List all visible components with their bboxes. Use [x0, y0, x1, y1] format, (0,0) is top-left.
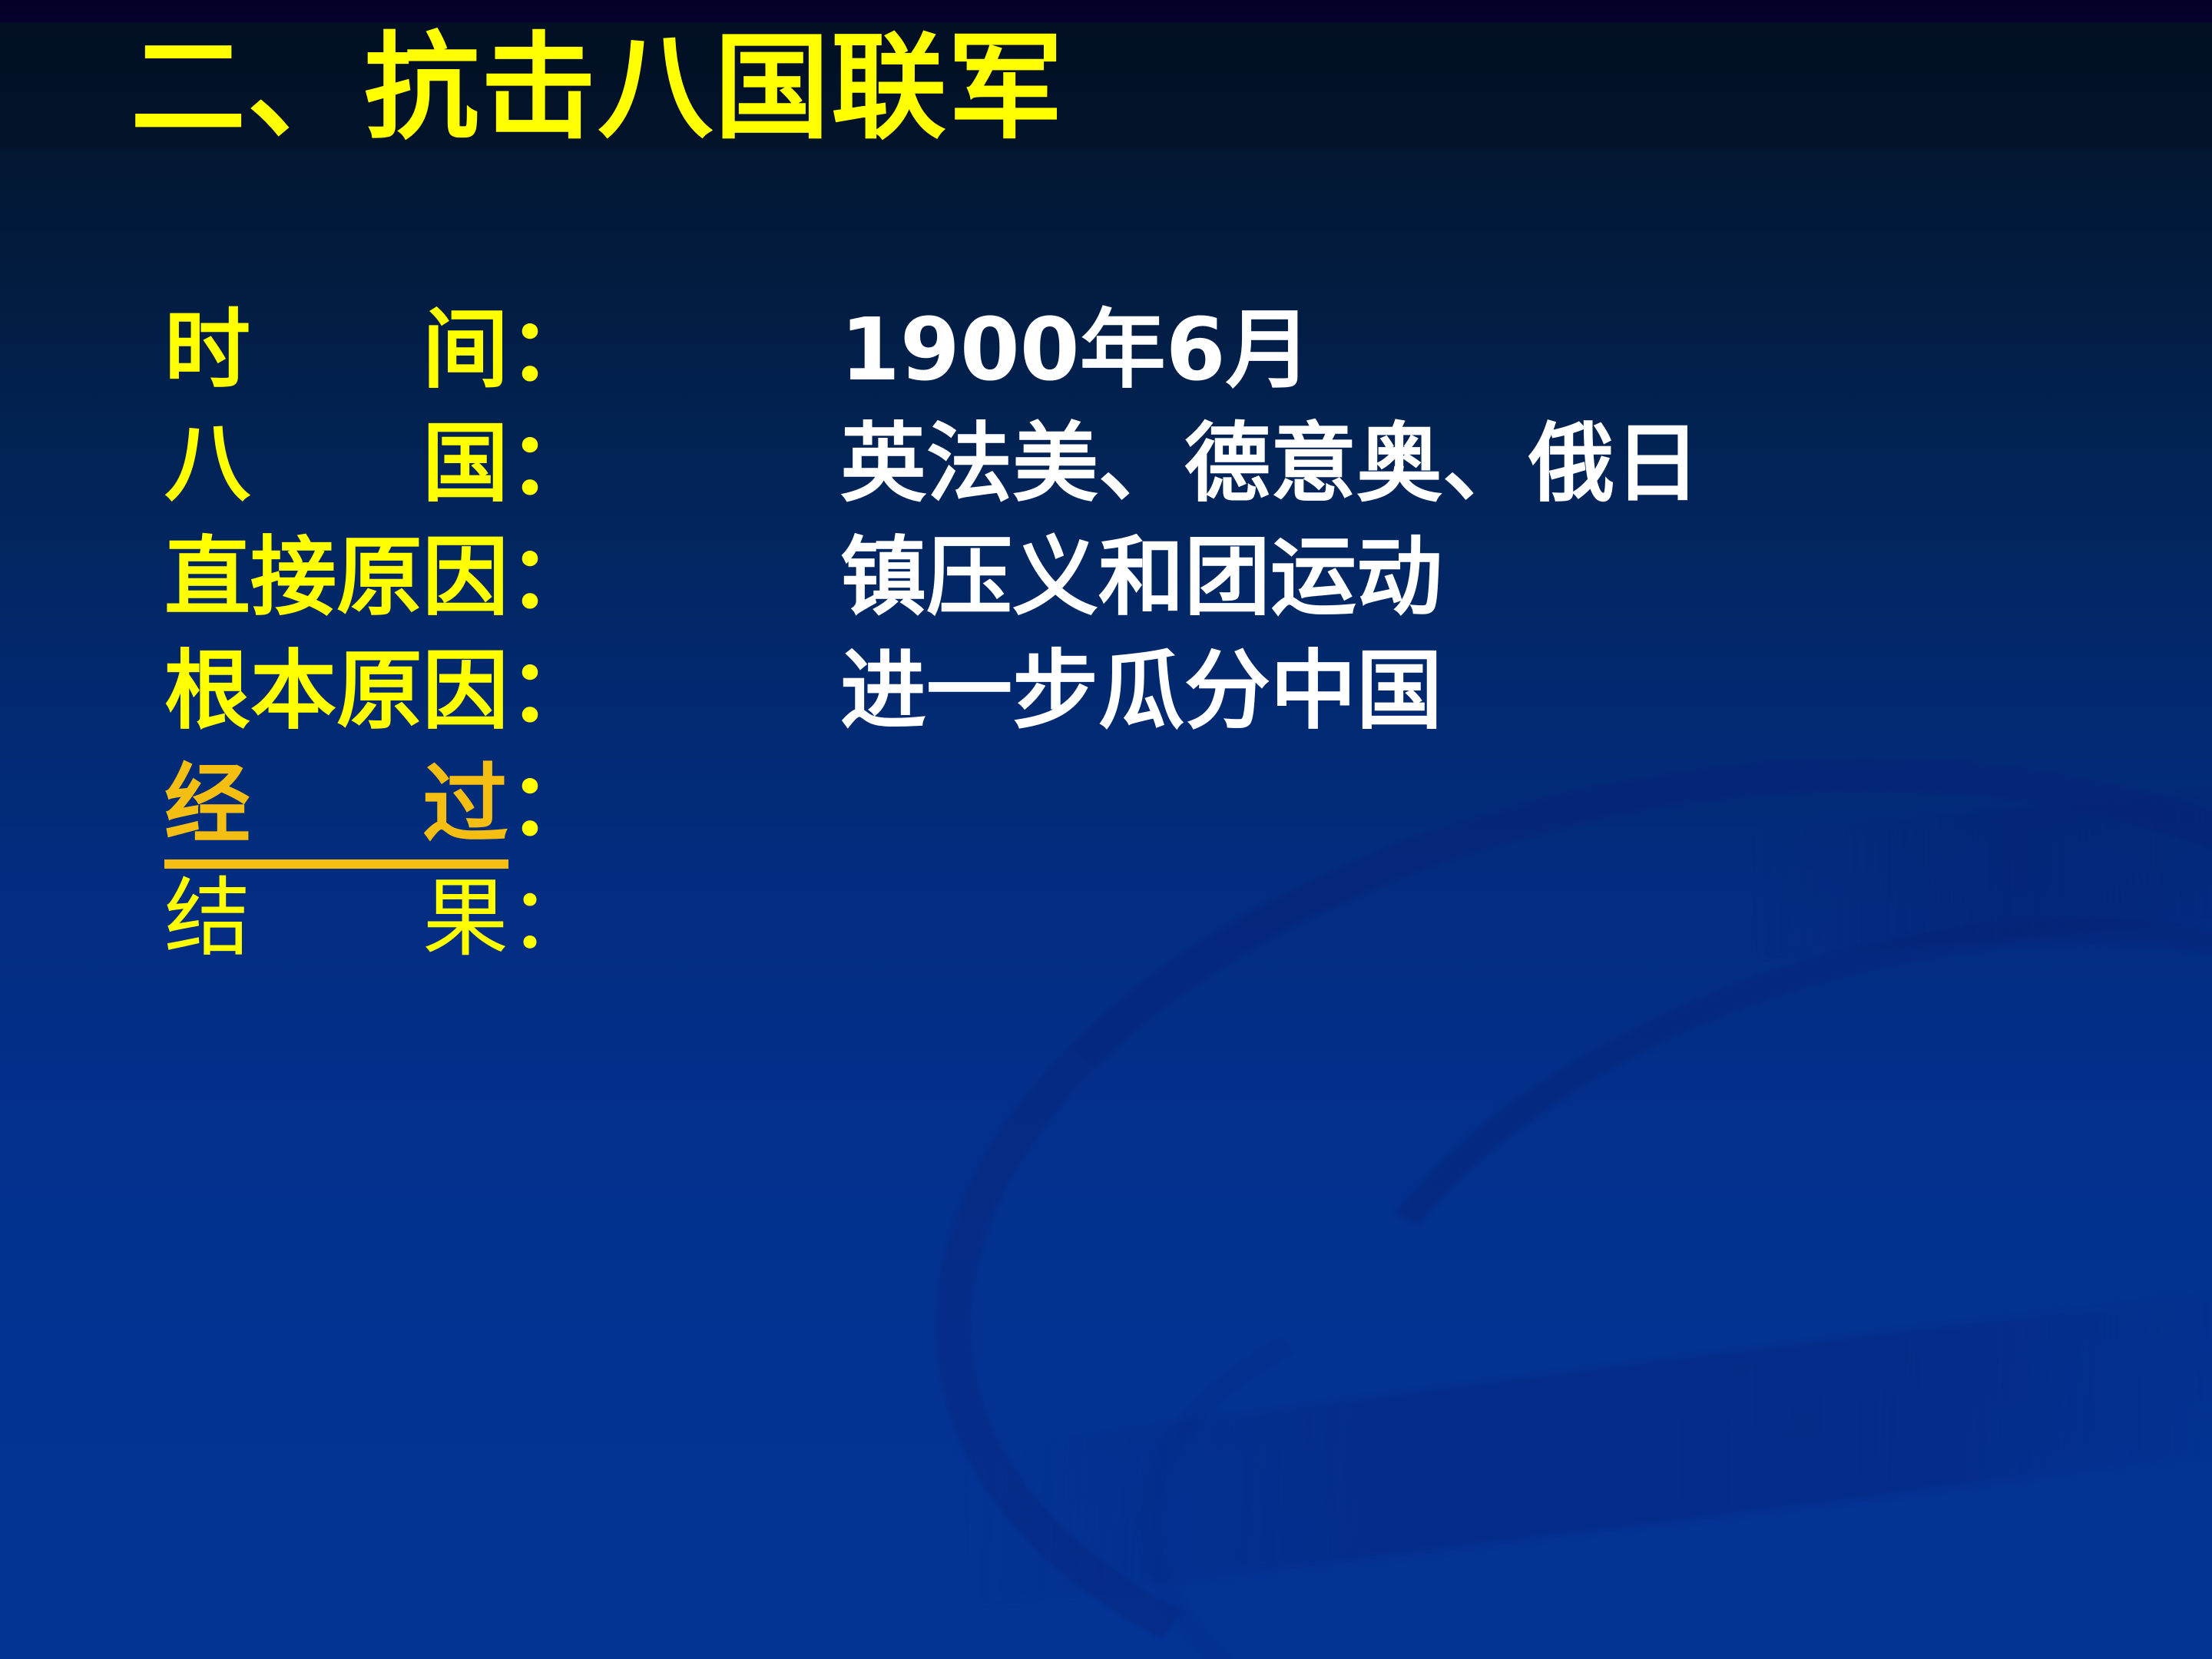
background-swirl-ribbon-2 — [713, 979, 2212, 1659]
row-value-root-cause: 进一步瓜分中国 — [840, 648, 2161, 734]
presentation-slide: 二、抗击八国联军 时 间： 1900年6月 八 国： 英法美、德意奥、俄日 直接… — [0, 0, 2212, 1659]
row-label-text: 结 果 — [164, 869, 508, 969]
list-item: 经 过： — [164, 762, 2161, 876]
row-label-colon: ： — [508, 869, 594, 969]
row-label-process: 经 过： — [164, 762, 840, 848]
row-label-colon: ： — [508, 641, 594, 741]
row-value-direct-cause: 镇压义和团运动 — [840, 535, 2161, 621]
background-swirl-streak-1 — [955, 1288, 2212, 1608]
row-label-direct-cause: 直接原因： — [164, 535, 840, 621]
row-label-text: 八 国 — [164, 414, 508, 514]
row-label-colon: ： — [508, 528, 594, 628]
row-label-time: 时 间： — [164, 307, 840, 393]
row-value-eight-nations: 英法美、德意奥、俄日 — [840, 421, 2161, 507]
row-label-text: 直接原因 — [164, 528, 508, 628]
list-item: 时 间： 1900年6月 — [164, 307, 2161, 421]
content-list: 时 间： 1900年6月 八 国： 英法美、德意奥、俄日 直接原因： 镇压义和团… — [164, 307, 2161, 989]
row-label-eight-nations: 八 国： — [164, 421, 840, 507]
row-label-colon: ： — [508, 300, 594, 400]
row-label-colon: ： — [508, 414, 594, 514]
row-label-result: 结 果： — [164, 876, 840, 962]
row-label-root-cause: 根本原因： — [164, 648, 840, 734]
list-item: 直接原因： 镇压义和团运动 — [164, 535, 2161, 648]
list-item: 结 果： — [164, 876, 2161, 989]
row-label-text: 根本原因 — [164, 641, 508, 741]
row-value-time: 1900年6月 — [840, 307, 2161, 393]
row-label-colon: ： — [508, 755, 594, 855]
list-item: 根本原因： 进一步瓜分中国 — [164, 648, 2161, 762]
row-label-text: 经 过 — [164, 755, 508, 869]
page-title: 二、抗击八国联军 — [131, 26, 1065, 151]
list-item: 八 国： 英法美、德意奥、俄日 — [164, 421, 2161, 535]
row-label-text: 时 间 — [164, 300, 508, 400]
